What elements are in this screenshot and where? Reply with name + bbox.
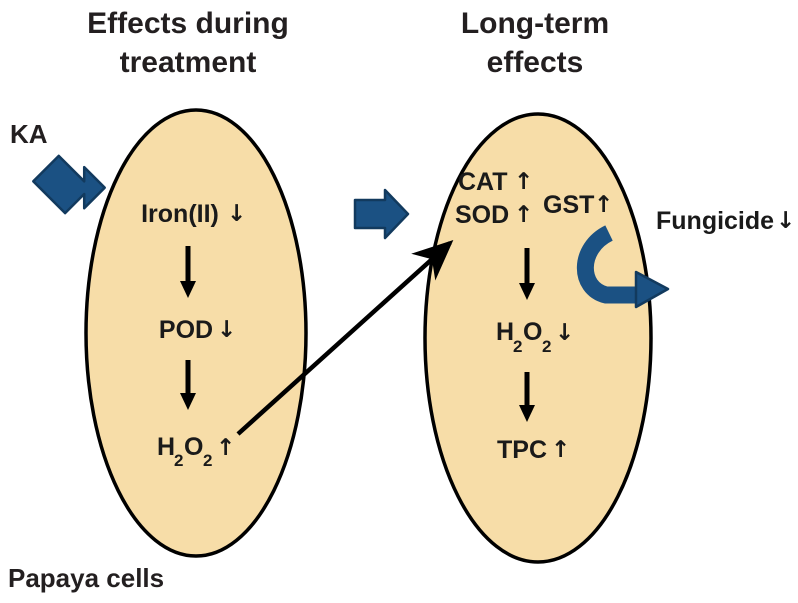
left-iron-change: ↓ xyxy=(227,201,246,227)
left-pod-label: POD xyxy=(159,316,213,344)
right-cat-label: CAT xyxy=(458,168,508,196)
ka-input-arrow-icon xyxy=(33,149,104,220)
right-gst-change: ↑ xyxy=(594,192,613,218)
fungicide-change: ↓ xyxy=(776,208,795,234)
right-cell-enzyme-gst: GST ↑ xyxy=(543,191,613,219)
left-h2o2-sub2: 2 xyxy=(203,451,212,470)
left-cell-step-iron: Iron(II) ↓ xyxy=(141,200,246,228)
right-tpc-change: ↑ xyxy=(551,437,570,463)
left-pod-change: ↓ xyxy=(217,317,236,343)
ka-input-label: KA xyxy=(10,119,48,149)
right-h2o2-sub1: 2 xyxy=(513,337,522,356)
heading-left-line1: Effects during xyxy=(87,7,289,40)
stage-transition-arrow-icon xyxy=(355,190,408,238)
right-cell-enzyme-cat: CAT ↑ xyxy=(458,168,533,196)
right-h2o2-change: ↓ xyxy=(555,320,574,346)
left-h2o2-change: ↑ xyxy=(216,435,235,461)
left-h2o2-o: O xyxy=(184,433,203,461)
right-gst-label: GST xyxy=(543,191,594,219)
figure-canvas: Effects during treatment Long-term effec… xyxy=(0,0,798,603)
right-h2o2-sub2: 2 xyxy=(542,337,551,356)
left-cell-step-pod: POD ↓ xyxy=(159,316,236,344)
heading-right: Long-term effects xyxy=(461,7,609,79)
right-sod-label: SOD xyxy=(455,201,509,229)
right-cell-enzyme-sod: SOD ↑ xyxy=(455,201,533,229)
left-h2o2-sub1: 2 xyxy=(174,451,183,470)
right-cat-change: ↑ xyxy=(514,169,533,195)
right-tpc-label: TPC xyxy=(497,436,547,464)
fungicide-text: Fungicide xyxy=(656,207,774,235)
right-h2o2-h: H xyxy=(496,318,514,346)
fungicide-output-label: Fungicide ↓ xyxy=(656,207,795,235)
heading-right-line2: effects xyxy=(487,46,584,79)
right-cell-step-tpc: TPC ↑ xyxy=(497,436,570,464)
right-sod-change: ↑ xyxy=(514,202,533,228)
right-h2o2-o: O xyxy=(523,318,542,346)
diagram-svg: Effects during treatment Long-term effec… xyxy=(0,0,798,603)
heading-left-line2: treatment xyxy=(120,46,257,79)
heading-right-line1: Long-term xyxy=(461,7,609,40)
left-h2o2-h: H xyxy=(157,433,175,461)
left-iron-label: Iron(II) xyxy=(141,200,219,228)
papaya-cells-label: Papaya cells xyxy=(8,563,164,593)
heading-left: Effects during treatment xyxy=(87,7,289,79)
